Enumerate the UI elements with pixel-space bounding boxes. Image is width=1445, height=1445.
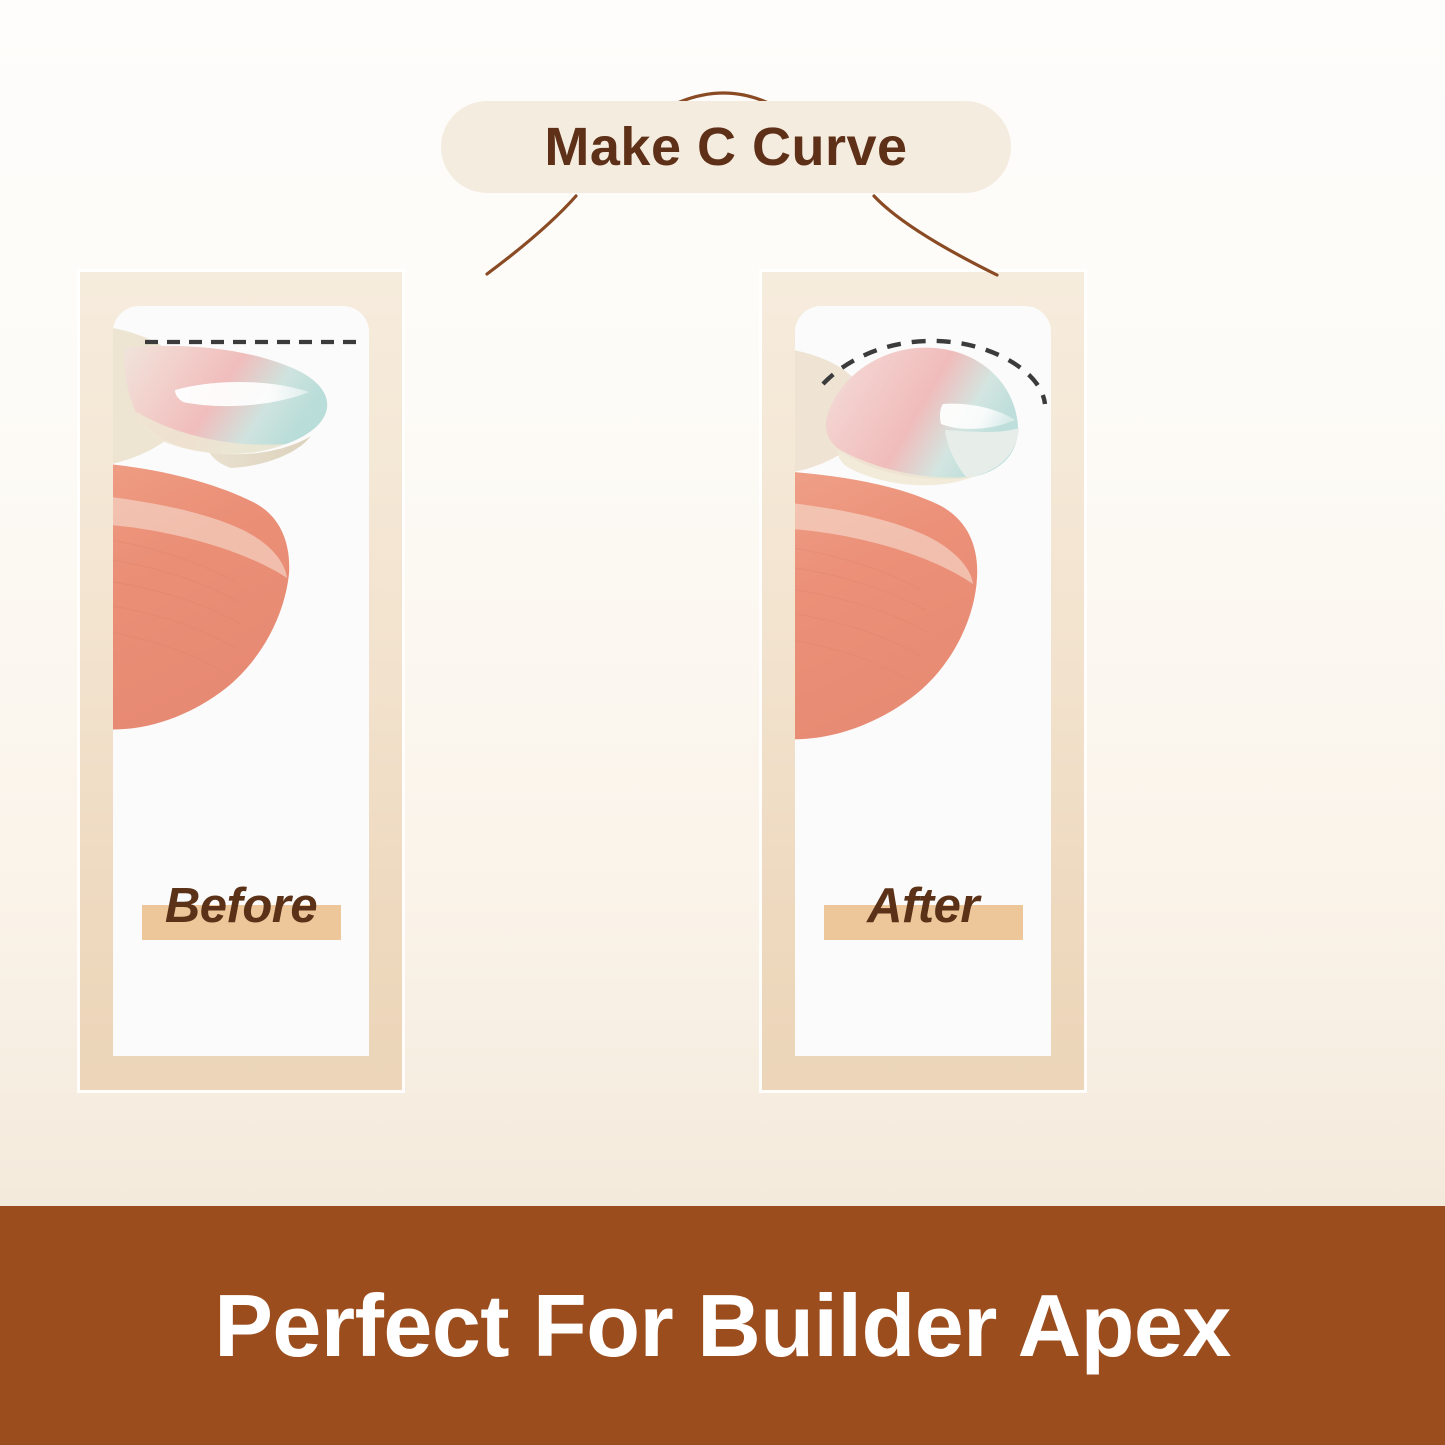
connector-right (874, 196, 997, 275)
title-badge: Make C Curve (441, 101, 1011, 193)
before-photo (113, 306, 369, 926)
panel-after-card: After (795, 306, 1051, 1056)
panel-before-card: Before (113, 306, 369, 1056)
after-caption-group: After (795, 874, 1051, 944)
after-finger-illustration (795, 306, 1051, 926)
connector-left (487, 196, 576, 274)
banner-headline: Perfect For Builder Apex (214, 1282, 1231, 1370)
bottom-banner: Perfect For Builder Apex (0, 1206, 1445, 1445)
before-finger-illustration (113, 306, 369, 926)
after-photo (795, 306, 1051, 926)
before-caption-label: Before (113, 874, 369, 938)
page-title: Make C Curve (544, 120, 907, 174)
before-caption-group: Before (113, 874, 369, 944)
panel-before: Before (80, 272, 402, 1090)
panel-after: After (762, 272, 1084, 1090)
infographic-page: Make C Curve (0, 0, 1445, 1445)
after-caption-label: After (795, 874, 1051, 938)
